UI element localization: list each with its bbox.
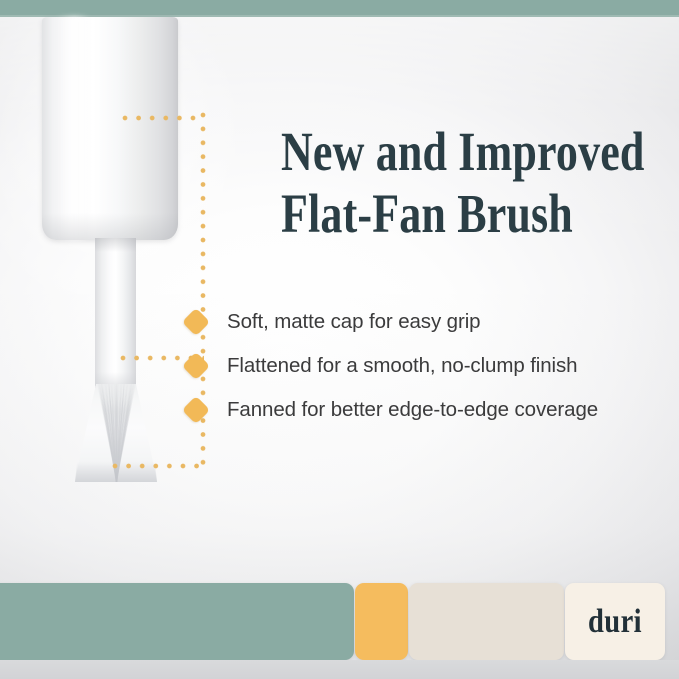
list-item: Soft, matte cap for easy grip — [186, 300, 656, 344]
list-item: Fanned for better edge-to-edge coverage — [186, 388, 656, 432]
bottom-edge-strip — [0, 660, 679, 679]
dotted-branch-to-bristles — [112, 463, 204, 469]
footer-segment-beige — [409, 583, 564, 660]
footer-segment-sage — [0, 583, 354, 660]
headline-line-1: New and Improved — [281, 120, 579, 184]
brush-handle — [95, 238, 136, 386]
product-image-brush — [0, 0, 260, 520]
diamond-bullet-icon — [182, 396, 210, 424]
brand-logo: duri — [573, 583, 657, 660]
product-feature-graphic: New and Improved Flat-Fan Brush Soft, ma… — [0, 0, 679, 679]
feature-list: Soft, matte cap for easy grip Flattened … — [186, 300, 656, 432]
headline-line-2: Flat-Fan Brush — [281, 182, 579, 246]
cap-highlight — [56, 17, 90, 240]
diamond-bullet-icon — [182, 308, 210, 336]
footer-segment-amber — [355, 583, 408, 660]
dotted-branch-to-cap — [122, 115, 204, 121]
feature-text: Fanned for better edge-to-edge coverage — [227, 397, 598, 423]
handle-shadow — [95, 238, 136, 252]
diamond-bullet-icon — [182, 352, 210, 380]
page-title: New and Improved Flat-Fan Brush — [281, 120, 579, 246]
feature-text: Soft, matte cap for easy grip — [227, 309, 480, 335]
feature-text: Flattened for a smooth, no-clump finish — [227, 353, 577, 379]
cap-shadow — [42, 213, 178, 240]
list-item: Flattened for a smooth, no-clump finish — [186, 344, 656, 388]
